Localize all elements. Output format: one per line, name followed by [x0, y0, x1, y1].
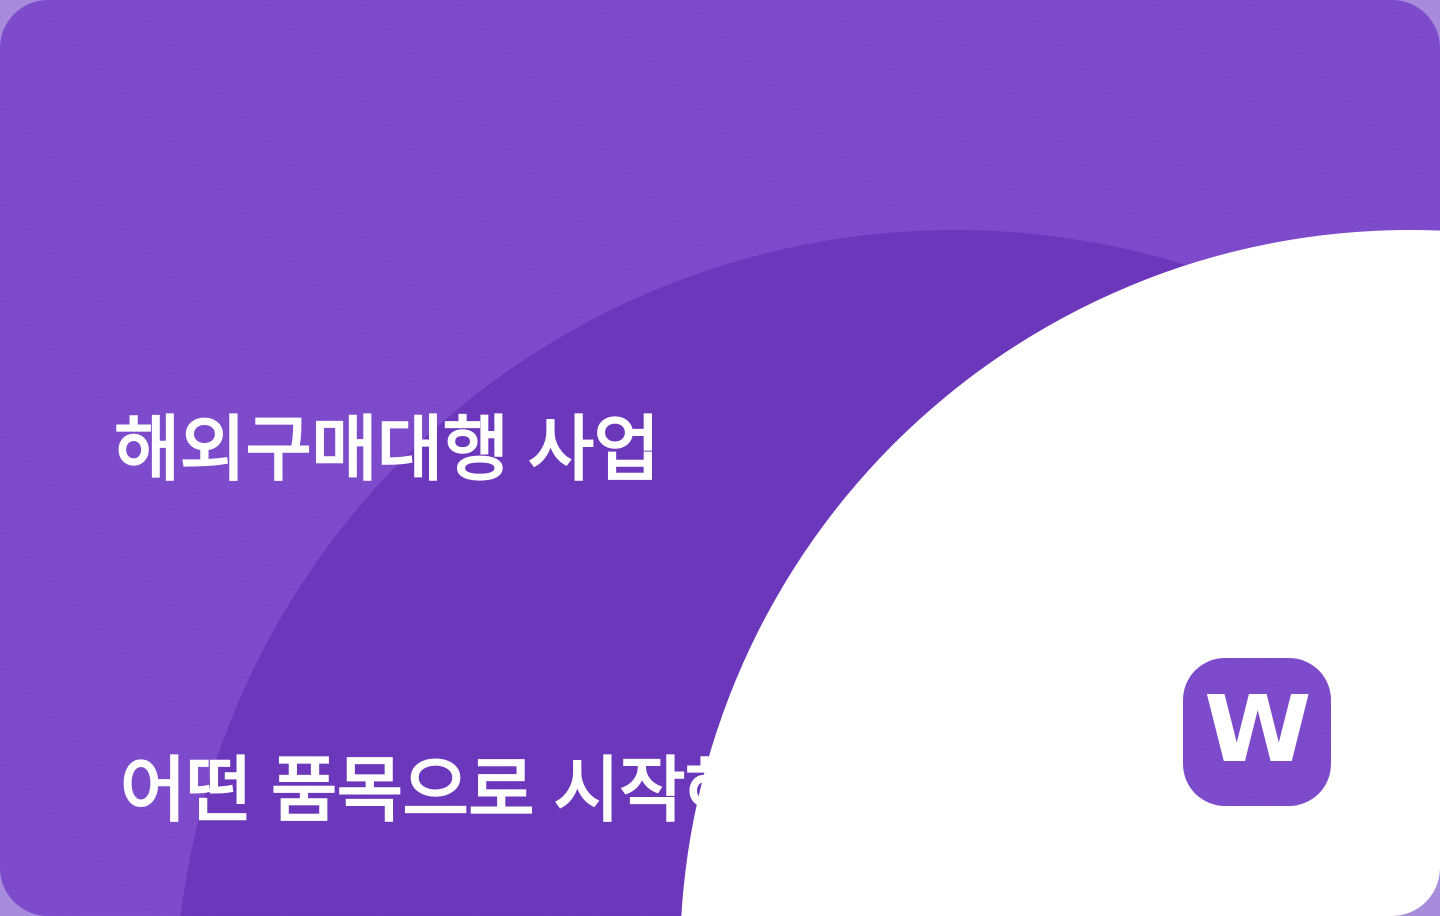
brand-badge-letter: W [1204, 684, 1309, 776]
w-logo-badge[interactable]: W [1183, 658, 1331, 806]
headline: 해외구매대행 사업 어떤 품목으로 시작해볼까 [114, 166, 882, 916]
headline-line-2: 어떤 품목으로 시작해볼까 [114, 735, 882, 849]
promo-card[interactable]: 해외구매대행 사업 어떤 품목으로 시작해볼까 W [0, 0, 1440, 916]
headline-line-1: 해외구매대행 사업 [114, 394, 882, 508]
